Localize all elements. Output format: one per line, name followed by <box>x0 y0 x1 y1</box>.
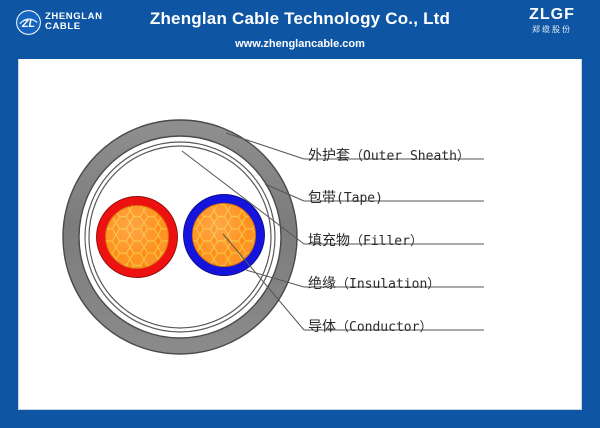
frame-bottom-border <box>0 410 600 428</box>
brand-logo-right-sub: 郑缆股份 <box>518 25 586 35</box>
callout-label-conductor: 导体（Conductor） <box>308 316 432 336</box>
callout-en-outer-sheath: （Outer Sheath） <box>350 149 470 164</box>
callout-cn-insulation: 绝缘 <box>308 276 336 292</box>
callout-label-outer-sheath: 外护套（Outer Sheath） <box>308 145 470 165</box>
callout-cn-tape: 包带 <box>308 190 336 206</box>
cable-cross-section-diagram <box>18 58 582 410</box>
svg-text:ZL: ZL <box>21 17 35 29</box>
callout-label-tape: 包带(Tape) <box>308 187 383 207</box>
zl-circle-logo-icon: ZL <box>16 10 41 35</box>
callout-cn-conductor: 导体 <box>308 319 336 335</box>
header-bar: Zhenglan Cable Technology Co., Ltd www.z… <box>0 0 600 59</box>
callout-en-conductor: （Conductor） <box>336 320 432 335</box>
callout-en-filler: （Filler） <box>350 234 423 249</box>
callout-en-tape: (Tape) <box>336 191 383 206</box>
callout-cn-outer-sheath: 外护套 <box>308 148 350 164</box>
website-url[interactable]: www.zhenglancable.com <box>0 38 600 50</box>
callout-label-insulation: 绝缘（Insulation） <box>308 273 440 293</box>
cable-diagram-svg <box>18 58 582 410</box>
core-1-conductor-shade <box>106 206 169 269</box>
frame-right-border <box>582 0 600 428</box>
brand-logo-line2: CABLE <box>45 22 103 32</box>
callout-cn-filler: 填充物 <box>308 233 350 249</box>
brand-logo-left[interactable]: ZL ZHENGLAN CABLE <box>16 8 108 36</box>
page-root: 外护套（Outer Sheath） 包带(Tape) 填充物（Filler） 绝… <box>0 0 600 428</box>
brand-logo-right[interactable]: ZLGF 郑缆股份 <box>518 7 586 37</box>
frame-left-border <box>0 0 18 428</box>
brand-logo-right-main: ZLGF <box>518 7 586 23</box>
callout-en-insulation: （Insulation） <box>336 277 440 292</box>
callout-label-filler: 填充物（Filler） <box>308 230 423 250</box>
